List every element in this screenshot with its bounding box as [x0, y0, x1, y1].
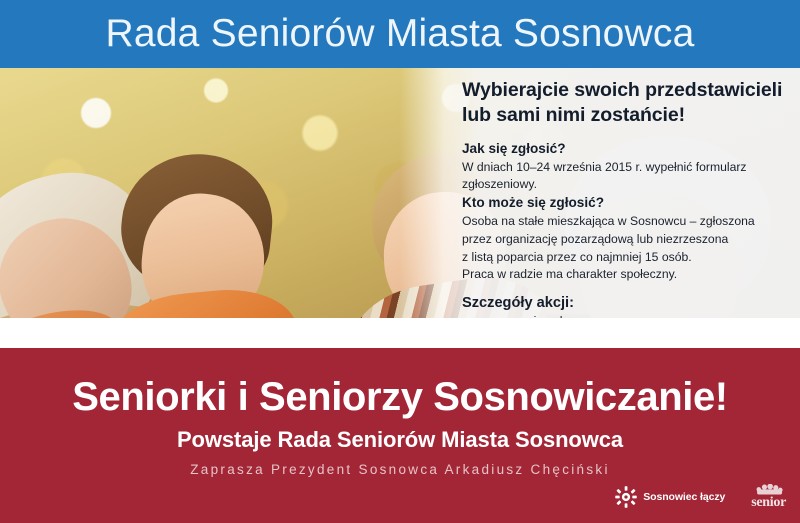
info-headline-line1: Wybierajcie swoich przedstawicieli	[462, 78, 798, 103]
answer-who-can-apply-line4: Praca w radzie ma charakter społeczny.	[462, 266, 798, 284]
answer-how-to-apply: W dniach 10–24 września 2015 r. wypełnić…	[462, 159, 798, 195]
banner-invitation: Zaprasza Prezydent Sosnowca Arkadiusz Ch…	[0, 462, 800, 477]
page-title: Rada Seniorów Miasta Sosnowca	[106, 12, 695, 56]
poster: Rada Seniorów Miasta Sosnowca	[0, 0, 800, 523]
red-banner: Seniorki i Seniorzy Sosnowiczanie! Powst…	[0, 348, 800, 523]
info-headline: Wybierajcie swoich przedstawicieli lub s…	[462, 78, 798, 128]
spacer	[462, 284, 798, 295]
logo-sosnowiec-laczy: Sosnowiec łączy	[615, 486, 725, 508]
logo-senior-label: senior	[751, 496, 786, 510]
white-separator	[0, 318, 800, 348]
question-how-to-apply: Jak się zgłosić?	[462, 140, 798, 159]
banner-subtitle: Powstaje Rada Seniorów Miasta Sosnowca	[0, 427, 800, 453]
question-who-can-apply: Kto może się zgłosić?	[462, 194, 798, 213]
answer-who-can-apply-line2: przez organizację pozarządową lub niezrz…	[462, 231, 798, 249]
info-headline-line2: lub sami nimi zostańcie!	[462, 103, 798, 128]
logo-senior: senior	[751, 484, 786, 510]
answer-who-can-apply-line3: z listą poparcia przez co najmniej 15 os…	[462, 249, 798, 267]
header-band: Rada Seniorów Miasta Sosnowca	[0, 0, 800, 68]
logo-row: Sosnowiec łączy senior	[615, 484, 786, 510]
logo-sosnowiec-label: Sosnowiec łączy	[643, 491, 725, 503]
sun-icon	[615, 486, 637, 508]
banner-title: Seniorki i Seniorzy Sosnowiczanie!	[0, 375, 800, 420]
details-title: Szczegóły akcji:	[462, 295, 798, 311]
answer-who-can-apply-line1: Osoba na stałe mieszkająca w Sosnowcu – …	[462, 213, 798, 231]
